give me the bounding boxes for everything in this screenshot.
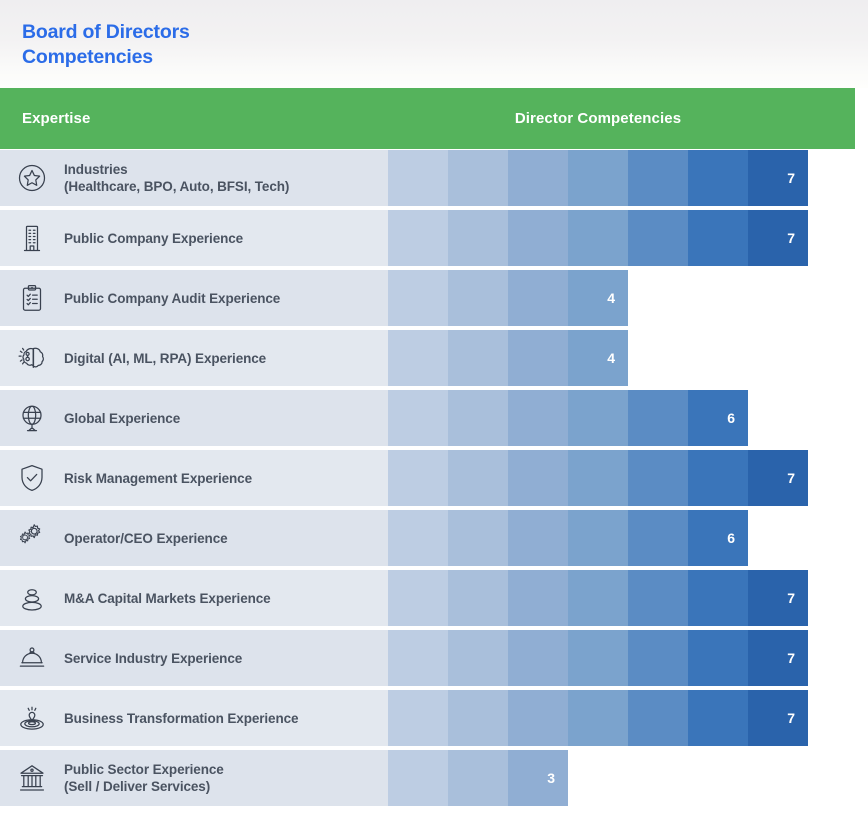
row-label-line-1: Industries — [64, 161, 289, 178]
bar-value-label: 7 — [787, 590, 808, 606]
bar-segment — [568, 210, 628, 266]
row-label: Business Transformation Experience — [64, 690, 384, 746]
bar-segment — [628, 690, 688, 746]
bar-segment — [448, 450, 508, 506]
stacked-stones-icon — [10, 570, 54, 626]
row-label: Risk Management Experience — [64, 450, 384, 506]
bar-segment — [448, 390, 508, 446]
bar-segment — [508, 450, 568, 506]
competency-bar[interactable]: 6 — [388, 390, 748, 446]
service-bell-icon — [10, 630, 54, 686]
bar-segment — [388, 150, 448, 206]
bar-segment — [448, 270, 508, 326]
bar-segment — [388, 390, 448, 446]
bar-segment — [448, 330, 508, 386]
bar-segment — [388, 750, 448, 806]
competency-rows: Industries(Healthcare, BPO, Auto, BFSI, … — [0, 150, 868, 810]
page-title-line-1: Board of Directors — [22, 20, 190, 45]
bar-segment — [448, 690, 508, 746]
bar-segment — [568, 510, 628, 566]
bar-segment — [568, 630, 628, 686]
table-row[interactable]: Business Transformation Experience7 — [0, 690, 868, 750]
bar-segment — [628, 630, 688, 686]
bar-segment — [628, 450, 688, 506]
column-header-director-competencies: Director Competencies — [388, 88, 808, 149]
row-label-line-1: Digital (AI, ML, RPA) Experience — [64, 350, 266, 367]
row-label: Public Company Audit Experience — [64, 270, 384, 326]
competency-bar[interactable]: 7 — [388, 570, 808, 626]
competency-bar[interactable]: 4 — [388, 270, 628, 326]
table-row[interactable]: M&A Capital Markets Experience7 — [0, 570, 868, 630]
bar-segment: 4 — [568, 330, 628, 386]
bar-segment — [388, 630, 448, 686]
competency-bar[interactable]: 4 — [388, 330, 628, 386]
bar-segment: 6 — [688, 510, 748, 566]
row-label-line-1: Risk Management Experience — [64, 470, 252, 487]
bar-segment — [388, 570, 448, 626]
competency-bar[interactable]: 7 — [388, 450, 808, 506]
bar-segment — [628, 210, 688, 266]
row-label: M&A Capital Markets Experience — [64, 570, 384, 626]
competency-chart-page: Board of Directors Competencies Expertis… — [0, 0, 868, 813]
bar-segment — [388, 510, 448, 566]
bar-segment — [508, 150, 568, 206]
bar-segment — [688, 450, 748, 506]
bar-segment — [508, 630, 568, 686]
row-label-line-2: (Sell / Deliver Services) — [64, 778, 224, 795]
bar-segment — [388, 690, 448, 746]
office-building-icon — [10, 210, 54, 266]
row-label-line-1: Public Sector Experience — [64, 761, 224, 778]
bar-value-label: 7 — [787, 650, 808, 666]
bar-segment — [628, 390, 688, 446]
bar-segment — [688, 150, 748, 206]
row-label: Global Experience — [64, 390, 384, 446]
bar-segment: 6 — [688, 390, 748, 446]
bar-segment: 7 — [748, 210, 808, 266]
bar-segment — [508, 510, 568, 566]
bar-segment: 7 — [748, 690, 808, 746]
competency-bar[interactable]: 6 — [388, 510, 748, 566]
bar-segment — [508, 690, 568, 746]
bar-value-label: 7 — [787, 470, 808, 486]
bar-segment — [508, 570, 568, 626]
row-label-line-1: Business Transformation Experience — [64, 710, 298, 727]
bar-segment — [508, 210, 568, 266]
table-row[interactable]: Public Company Experience7 — [0, 210, 868, 270]
gears-icon — [10, 510, 54, 566]
bar-value-label: 3 — [547, 770, 568, 786]
bar-value-label: 7 — [787, 710, 808, 726]
competency-bar[interactable]: 7 — [388, 150, 808, 206]
table-row[interactable]: Digital (AI, ML, RPA) Experience4 — [0, 330, 868, 390]
bar-segment: 7 — [748, 570, 808, 626]
bar-segment — [448, 150, 508, 206]
bar-value-label: 7 — [787, 230, 808, 246]
table-row[interactable]: Industries(Healthcare, BPO, Auto, BFSI, … — [0, 150, 868, 210]
bar-segment — [448, 510, 508, 566]
bar-segment — [388, 270, 448, 326]
bar-segment — [448, 630, 508, 686]
table-row[interactable]: Global Experience6 — [0, 390, 868, 450]
bar-segment — [448, 210, 508, 266]
row-label-line-1: Public Company Experience — [64, 230, 243, 247]
shield-check-icon — [10, 450, 54, 506]
row-label: Operator/CEO Experience — [64, 510, 384, 566]
bar-segment — [448, 570, 508, 626]
row-label-line-1: M&A Capital Markets Experience — [64, 590, 271, 607]
competency-bar[interactable]: 7 — [388, 630, 808, 686]
bar-segment — [508, 390, 568, 446]
bar-segment — [508, 330, 568, 386]
row-label-line-1: Global Experience — [64, 410, 180, 427]
bar-value-label: 7 — [787, 170, 808, 186]
table-row[interactable]: Operator/CEO Experience6 — [0, 510, 868, 570]
bar-segment — [568, 570, 628, 626]
brain-circuit-icon — [10, 330, 54, 386]
bar-segment — [568, 390, 628, 446]
bar-segment: 3 — [508, 750, 568, 806]
bar-segment — [688, 570, 748, 626]
globe-icon — [10, 390, 54, 446]
bar-segment — [688, 630, 748, 686]
bar-segment — [448, 750, 508, 806]
row-label-line-2: (Healthcare, BPO, Auto, BFSI, Tech) — [64, 178, 289, 195]
competency-bar[interactable]: 7 — [388, 690, 808, 746]
table-row[interactable]: Public Sector Experience(Sell / Deliver … — [0, 750, 868, 810]
bar-value-label: 4 — [607, 350, 628, 366]
row-label: Digital (AI, ML, RPA) Experience — [64, 330, 384, 386]
bar-segment — [568, 690, 628, 746]
star-circle-icon — [10, 150, 54, 206]
bar-segment: 7 — [748, 450, 808, 506]
water-ripple-icon — [10, 690, 54, 746]
title-band: Board of Directors Competencies — [0, 0, 868, 88]
bar-segment — [688, 690, 748, 746]
bar-segment — [388, 210, 448, 266]
competency-bar[interactable]: 3 — [388, 750, 568, 806]
bar-segment: 7 — [748, 630, 808, 686]
clipboard-checklist-icon — [10, 270, 54, 326]
bank-building-icon — [10, 750, 54, 806]
page-title: Board of Directors Competencies — [22, 20, 190, 70]
bar-value-label: 6 — [727, 530, 748, 546]
table-row[interactable]: Risk Management Experience7 — [0, 450, 868, 510]
row-label: Service Industry Experience — [64, 630, 384, 686]
bar-segment — [568, 150, 628, 206]
bar-segment: 7 — [748, 150, 808, 206]
table-header: Expertise Director Competencies — [0, 88, 855, 149]
bar-segment — [568, 450, 628, 506]
row-label: Public Company Experience — [64, 210, 384, 266]
row-label-line-1: Public Company Audit Experience — [64, 290, 280, 307]
bar-value-label: 4 — [607, 290, 628, 306]
table-row[interactable]: Public Company Audit Experience4 — [0, 270, 868, 330]
competency-bar[interactable]: 7 — [388, 210, 808, 266]
row-label: Industries(Healthcare, BPO, Auto, BFSI, … — [64, 150, 384, 206]
row-label: Public Sector Experience(Sell / Deliver … — [64, 750, 384, 806]
row-label-line-1: Operator/CEO Experience — [64, 530, 228, 547]
bar-segment: 4 — [568, 270, 628, 326]
bar-segment — [388, 330, 448, 386]
bar-value-label: 6 — [727, 410, 748, 426]
bar-segment — [628, 510, 688, 566]
table-row[interactable]: Service Industry Experience7 — [0, 630, 868, 690]
bar-segment — [628, 570, 688, 626]
bar-segment — [508, 270, 568, 326]
bar-segment — [688, 210, 748, 266]
row-label-line-1: Service Industry Experience — [64, 650, 242, 667]
bar-segment — [388, 450, 448, 506]
column-header-expertise: Expertise — [22, 88, 90, 149]
page-title-line-2: Competencies — [22, 45, 190, 70]
bar-segment — [628, 150, 688, 206]
